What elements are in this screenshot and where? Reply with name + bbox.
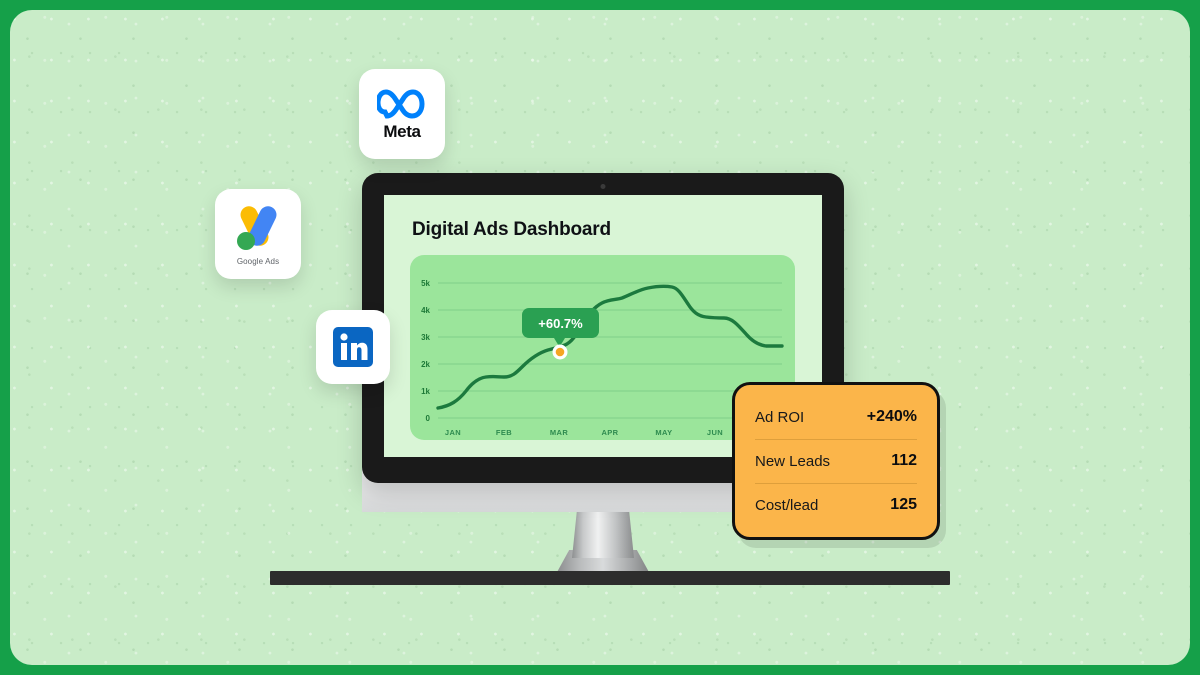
metric-row-new-leads: New Leads 112	[755, 439, 917, 483]
chart-highlight-dot[interactable]	[553, 345, 568, 360]
google-ads-wordmark: Google Ads	[237, 257, 279, 266]
outer-green-frame: Digital Ads Dashboard	[0, 0, 1200, 675]
svg-text:JAN: JAN	[445, 428, 461, 437]
meta-infinity-icon	[377, 87, 427, 121]
svg-text:MAR: MAR	[550, 428, 568, 437]
metric-value: +240%	[867, 408, 917, 426]
svg-text:2k: 2k	[421, 360, 430, 369]
metric-label: New Leads	[755, 453, 830, 470]
metric-label: Ad ROI	[755, 409, 804, 426]
linkedin-icon	[333, 327, 373, 367]
monitor-stand-neck	[572, 510, 634, 558]
chart-gridlines	[438, 283, 782, 418]
metric-value: 112	[891, 452, 917, 470]
svg-text:MAY: MAY	[655, 428, 672, 437]
svg-text:3k: 3k	[421, 333, 430, 342]
webcam-icon	[601, 184, 606, 189]
logo-tile-meta: Meta	[359, 69, 445, 159]
google-ads-icon	[232, 203, 284, 253]
metric-value: 125	[890, 496, 917, 514]
svg-text:APR: APR	[601, 428, 618, 437]
svg-text:JUN: JUN	[707, 428, 723, 437]
chart-tooltip[interactable]: +60.7%	[522, 308, 599, 347]
svg-text:5k: 5k	[421, 279, 430, 288]
logo-tile-google-ads: Google Ads	[215, 189, 301, 279]
metric-row-cost-per-lead: Cost/lead 125	[755, 483, 917, 527]
chart-series-line	[438, 286, 782, 408]
chart-x-axis: JAN FEB MAR APR MAY JUN	[445, 428, 723, 437]
svg-text:4k: 4k	[421, 306, 430, 315]
chart-y-axis: 5k 4k 3k 2k 1k 0	[421, 279, 430, 423]
chart-tooltip-label: +60.7%	[538, 316, 583, 331]
page-title: Digital Ads Dashboard	[412, 219, 611, 241]
metrics-card: Ad ROI +240% New Leads 112 Cost/lead 125	[732, 382, 940, 540]
desk-bar	[270, 571, 950, 585]
svg-text:1k: 1k	[421, 387, 430, 396]
poster-canvas: Digital Ads Dashboard	[10, 10, 1190, 665]
logo-tile-linkedin	[316, 310, 390, 384]
svg-text:0: 0	[426, 414, 431, 423]
meta-wordmark: Meta	[383, 122, 420, 142]
metric-label: Cost/lead	[755, 497, 818, 514]
svg-text:FEB: FEB	[496, 428, 512, 437]
metric-row-ad-roi: Ad ROI +240%	[755, 396, 917, 439]
